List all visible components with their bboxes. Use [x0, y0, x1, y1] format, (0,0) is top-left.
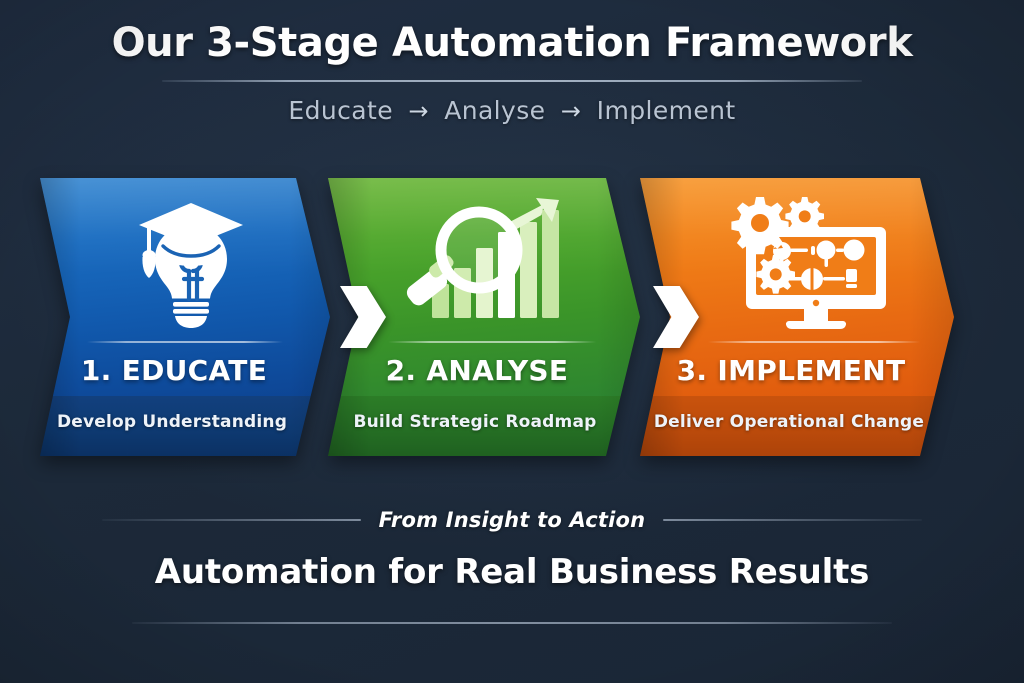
footer: From Insight to Action Automation for Re…	[0, 508, 1024, 624]
graduation-cap-lightbulb-icon	[40, 192, 330, 332]
subtitle-flow: Educate → Analyse → Implement	[0, 96, 1024, 125]
arrow-analyse-to-implement-icon	[653, 286, 699, 348]
stage-3-title: 3. IMPLEMENT	[640, 354, 954, 387]
footer-headline: Automation for Real Business Results	[0, 552, 1024, 592]
arrow-educate-to-analyse-icon	[340, 286, 386, 348]
stage-3-title-divider	[708, 341, 920, 343]
subtitle-arrow-1-icon: →	[401, 97, 436, 125]
stage-2-title-divider	[388, 341, 596, 343]
tagline-row: From Insight to Action	[102, 508, 922, 532]
subtitle-step-3: Implement	[597, 96, 736, 125]
page-title: Our 3-Stage Automation Framework	[0, 20, 1024, 66]
footer-bottom-divider	[132, 622, 892, 624]
stage-2-title: 2. ANALYSE	[328, 354, 640, 387]
subtitle-step-2: Analyse	[444, 96, 545, 125]
tagline-rule-right	[663, 519, 922, 521]
stage-1-subtitle: Develop Understanding	[40, 412, 330, 432]
stage-2-subtitle: Build Strategic Roadmap	[328, 412, 640, 432]
subtitle-step-1: Educate	[288, 96, 393, 125]
stage-card-educate[interactable]: 1. EDUCATE Develop Understanding	[40, 178, 330, 456]
stage-process-row: 1. EDUCATE Develop Understanding	[40, 178, 984, 456]
stage-1-title: 1. EDUCATE	[40, 354, 330, 387]
header: Our 3-Stage Automation Framework Educate…	[0, 20, 1024, 125]
stage-3-subtitle: Deliver Operational Change	[640, 412, 954, 432]
title-divider	[162, 80, 862, 82]
tagline-rule-left	[102, 519, 361, 521]
subtitle-arrow-2-icon: →	[554, 97, 589, 125]
tagline: From Insight to Action	[379, 508, 646, 532]
stage-1-title-divider	[87, 341, 283, 343]
